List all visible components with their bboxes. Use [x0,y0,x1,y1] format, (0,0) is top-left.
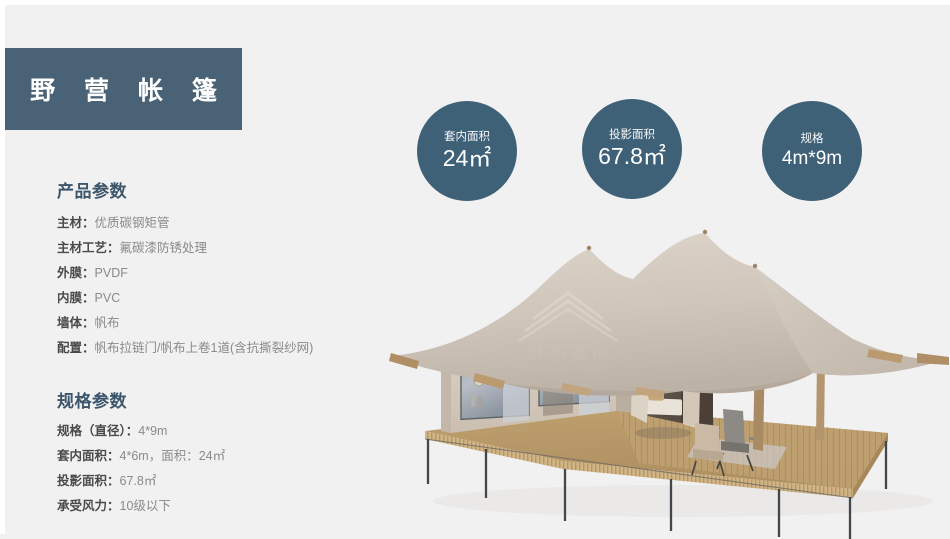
stat-value: 24㎡ [443,147,492,170]
stat-number: 67.8 [598,143,643,169]
spec-label: 主材工艺： [57,241,120,255]
stat-unit: ㎡ [468,145,491,171]
spec-label: 投影面积： [57,474,120,488]
spec-value: 氟碳漆防锈处理 [120,241,208,255]
canopy-peak-tip-center [703,230,707,234]
spec-label: 主材： [57,216,95,230]
stat-value: 67.8㎡ [598,145,666,168]
spec-row: 套内面积：4*6m，面积：24㎡ [57,444,387,469]
spec-row: 内膜：PVC [57,286,387,311]
canopy-peak-tip-right [753,264,757,268]
spec-row: 主材工艺：氟碳漆防锈处理 [57,236,387,261]
spec-value: 4*6m，面积：24㎡ [120,449,226,463]
spec-label: 配置： [57,341,95,355]
stat-circles-group: 套内面积 24㎡ 投影面积 67.8㎡ 规格 4m*9m [415,99,915,209]
stat-unit: ㎡ [643,143,666,169]
spec-row: 规格（直径）：4*9m [57,419,387,444]
canopy-peak-tip-left [587,246,591,250]
specification-parameters-section: 规格参数 规格（直径）：4*9m 套内面积：4*6m，面积：24㎡ 投影面积：6… [57,387,387,519]
stat-label: 投影面积 [609,130,655,142]
tent-canopy [389,230,949,398]
spec-value: 4*9m [138,424,167,438]
page-title: 野 营 帐 篷 [19,71,228,107]
spec-value: PVDF [95,266,128,280]
stat-circle-interior-area: 套内面积 24㎡ [417,101,517,201]
tent-illustration: 野 和 篷 房 NOBLE TENT [383,201,950,539]
product-parameters-heading: 产品参数 [57,177,387,202]
stat-circle-projected-area: 投影面积 67.8㎡ [582,99,682,199]
stat-number: 4m*9m [782,148,842,169]
stat-label: 套内面积 [444,132,490,144]
spec-value: 优质碳钢矩管 [95,216,170,230]
spec-row: 墙体：帆布 [57,311,387,336]
spec-row: 外膜：PVDF [57,261,387,286]
spec-label: 承受风力： [57,499,120,513]
spec-label: 外膜： [57,266,95,280]
stat-number: 24 [443,145,469,171]
spec-label: 内膜： [57,291,95,305]
tent-svg: 野 和 篷 房 NOBLE TENT [383,201,950,539]
page-root: 野 营 帐 篷 产品参数 主材：优质碳钢矩管 主材工艺：氟碳漆防锈处理 外膜：P… [0,0,950,534]
spec-value: 10级以下 [120,499,171,513]
spec-label: 墙体： [57,316,95,330]
title-banner: 野 营 帐 篷 [5,48,242,130]
stat-value: 4m*9m [782,149,842,168]
specification-parameters-heading: 规格参数 [57,387,387,412]
parameter-panel: 产品参数 主材：优质碳钢矩管 主材工艺：氟碳漆防锈处理 外膜：PVDF 内膜：P… [57,177,387,533]
watermark-title: 野 和 篷 房 [527,344,609,363]
stat-circle-dimensions: 规格 4m*9m [762,101,862,201]
product-parameters-section: 产品参数 主材：优质碳钢矩管 主材工艺：氟碳漆防锈处理 外膜：PVDF 内膜：P… [57,177,387,361]
spec-value: 帆布 [95,316,120,330]
spec-label: 套内面积： [57,449,120,463]
spec-row: 配置：帆布拉链门/帆布上卷1道(含抗撕裂纱网) [57,336,387,361]
watermark-subtitle: NOBLE TENT [525,365,611,375]
spec-row: 承受风力：10级以下 [57,494,387,519]
spec-label: 规格（直径）： [57,424,138,438]
spec-row: 投影面积：67.8㎡ [57,469,387,494]
interior-rug [635,427,691,439]
spec-row: 主材：优质碳钢矩管 [57,211,387,236]
stat-label: 规格 [801,134,824,146]
spec-value: 帆布拉链门/帆布上卷1道(含抗撕裂纱网) [95,341,314,355]
spec-value: 67.8㎡ [120,474,157,488]
spec-value: PVC [95,291,121,305]
